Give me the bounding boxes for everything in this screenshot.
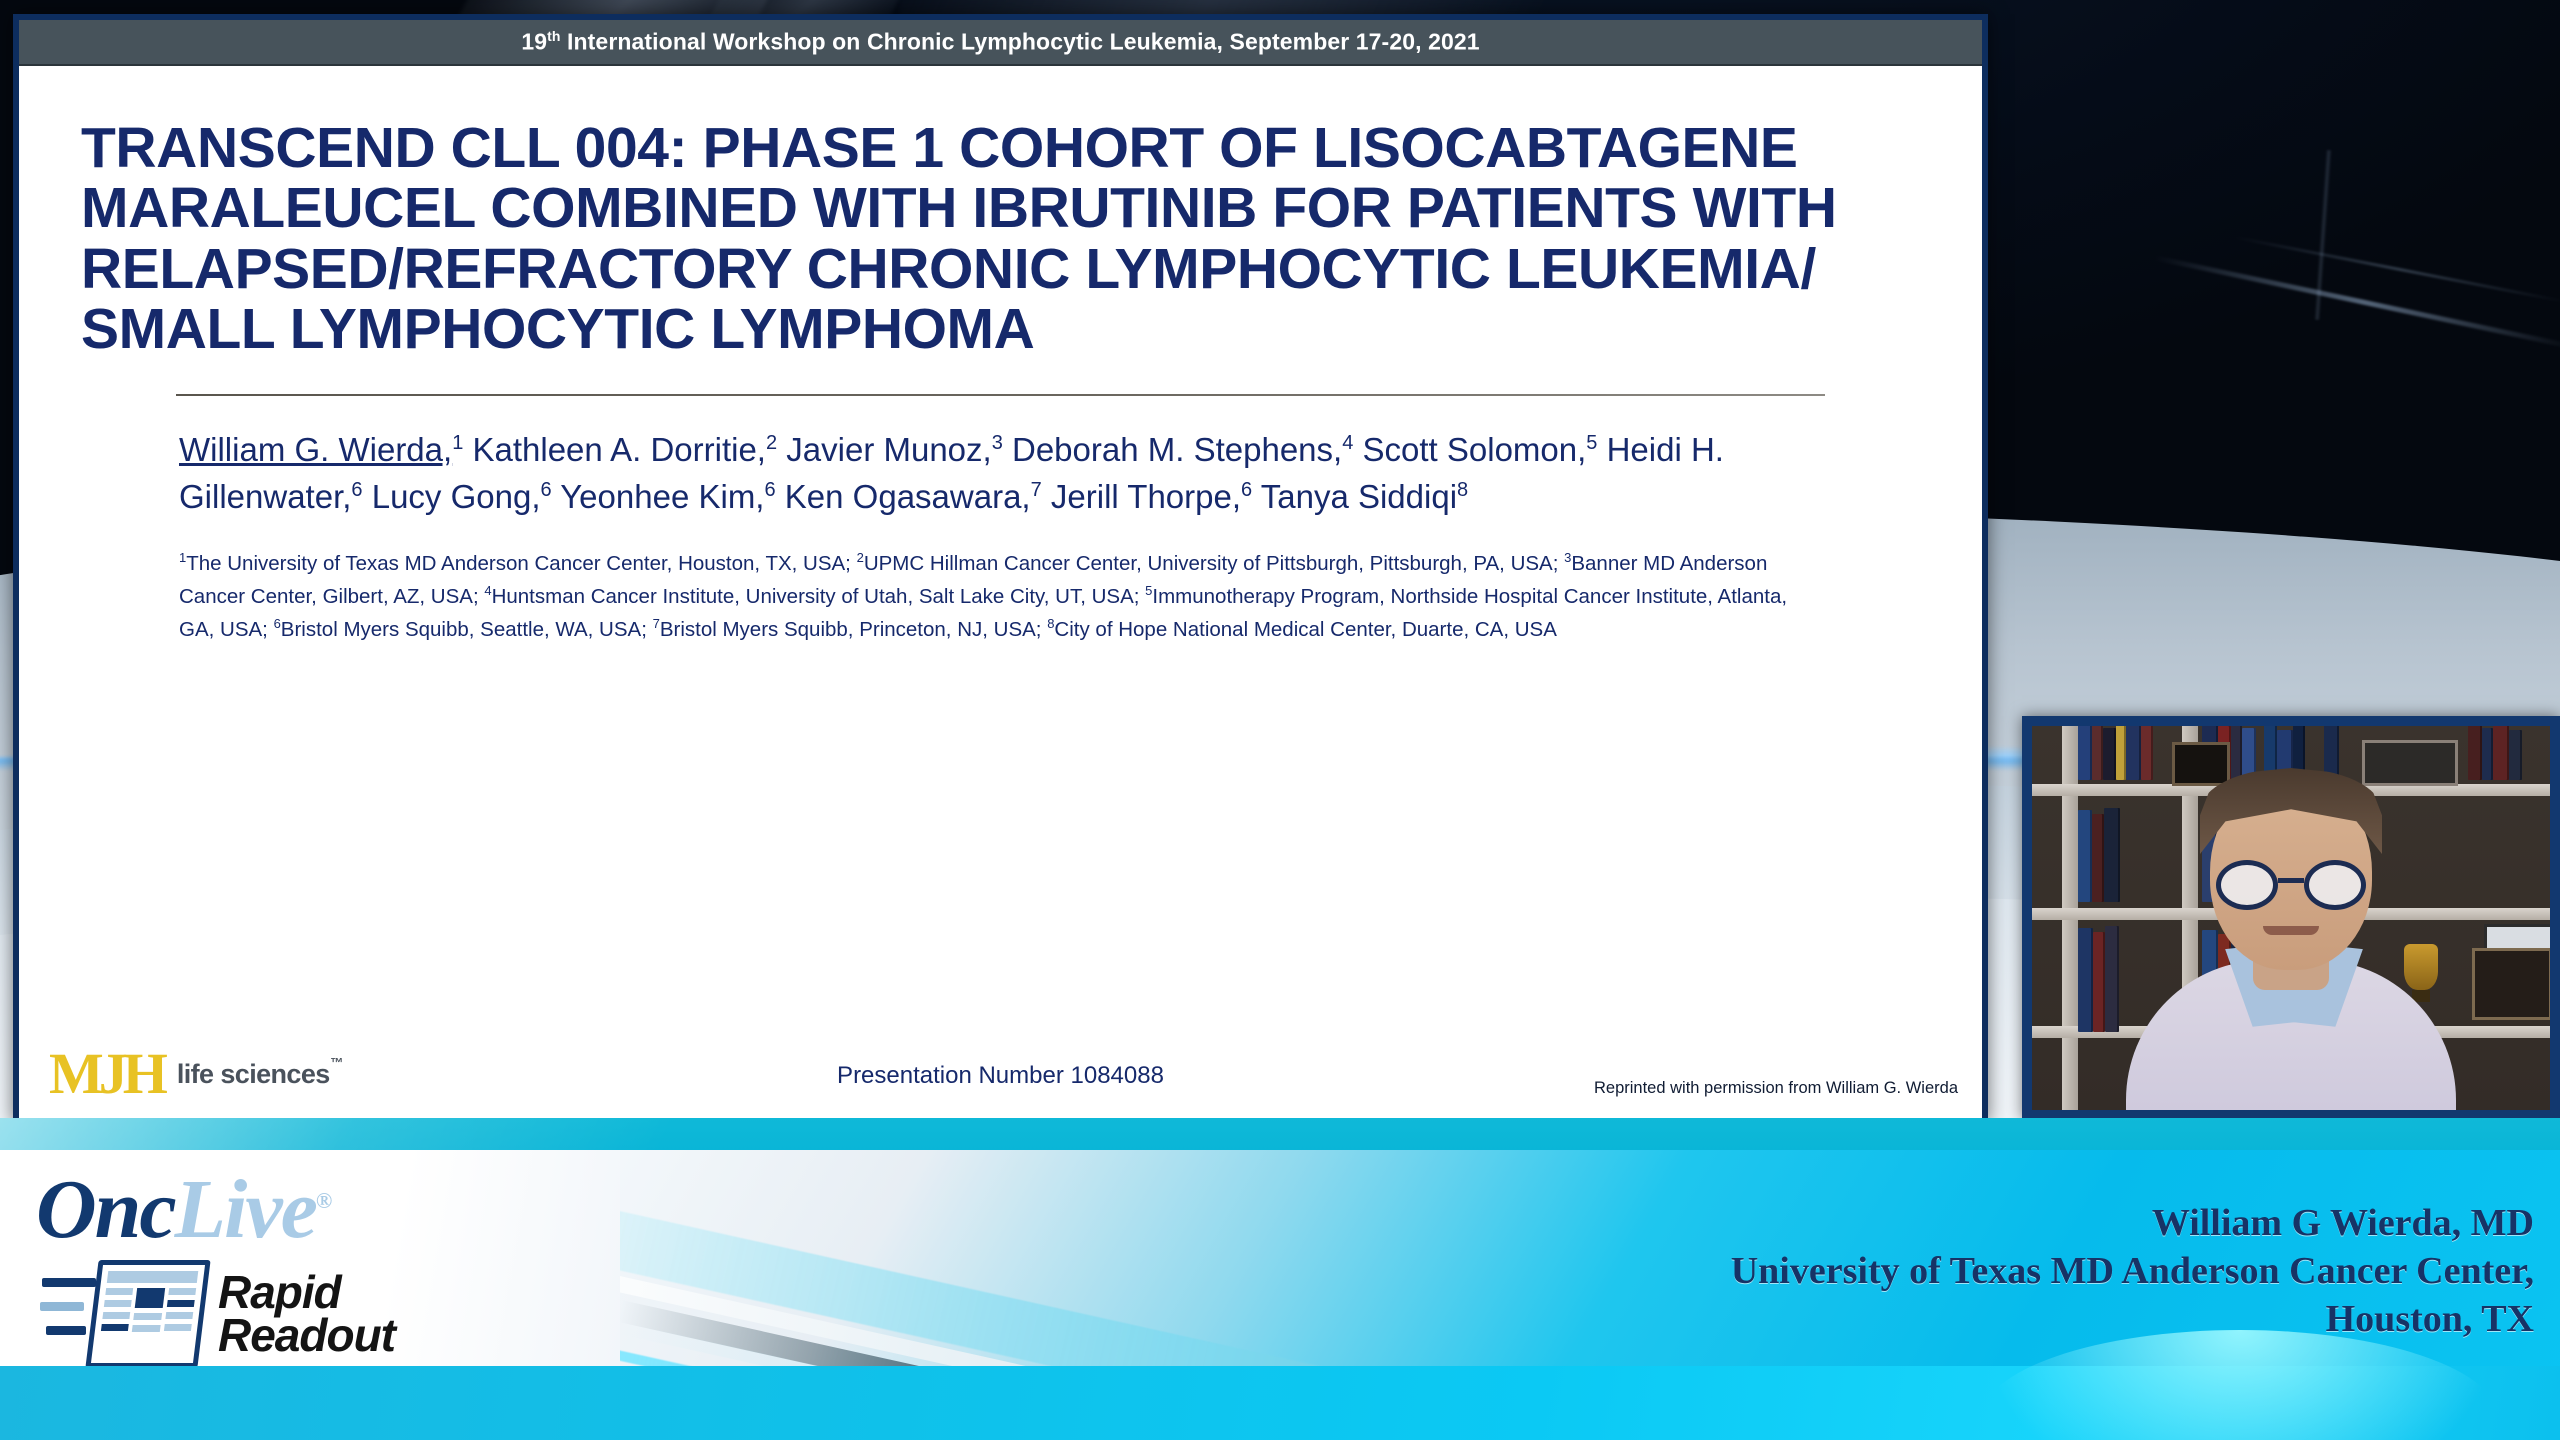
doc-line (164, 1324, 192, 1331)
doc-line (101, 1324, 129, 1331)
rapid-readout-lockup: Rapid Readout (40, 1258, 395, 1370)
screen: 19th International Workshop on Chronic L… (0, 0, 2560, 1440)
banner-accent-bar (0, 1366, 2560, 1440)
book (2141, 726, 2153, 780)
doc-columns (100, 1288, 196, 1337)
reprint-permission-note: Reprinted with permission from William G… (1594, 1079, 1958, 1098)
trademark-icon: ™ (330, 1055, 342, 1070)
author-affiliation-marker: 4 (1342, 432, 1353, 454)
book (2103, 728, 2116, 780)
book (2078, 928, 2093, 1032)
doc-line (134, 1313, 162, 1320)
presentation-number: Presentation Number 1084088 (837, 1062, 1164, 1090)
framed-photo (2472, 948, 2550, 1020)
author-affiliation-marker: 7 (1031, 479, 1042, 501)
doc-line (165, 1312, 193, 1319)
affiliation-marker: 6 (274, 616, 281, 631)
rapid-readout-text: Rapid Readout (218, 1271, 395, 1357)
book (2509, 730, 2522, 780)
affiliation-text: Bristol Myers Squibb, Seattle, WA, USA; (281, 618, 653, 641)
doc-line (168, 1288, 196, 1295)
book (2092, 726, 2103, 780)
mjh-life-sciences-logo: MJH life sciences™ (49, 1050, 330, 1098)
doc-line (107, 1271, 198, 1283)
eyeglasses-icon (2216, 860, 2366, 910)
slide-footer: MJH life sciences™ Presentation Number 1… (19, 1022, 1982, 1118)
book (2078, 810, 2092, 902)
hair (2200, 768, 2382, 854)
doc-line (135, 1288, 165, 1308)
author-name: Scott Solomon, (1363, 431, 1587, 468)
author-affiliation-marker: 6 (351, 479, 362, 501)
onclive-onc-text: Onc (36, 1163, 175, 1256)
author-affiliation-marker: 8 (1457, 479, 1468, 501)
document-icon (40, 1258, 204, 1370)
conference-title: 19th International Workshop on Chronic L… (521, 28, 1479, 56)
doc-line (102, 1312, 130, 1319)
affiliation-marker: 4 (484, 583, 491, 598)
speaker-affiliation: University of Texas MD Anderson Cancer C… (1731, 1248, 2534, 1296)
onclive-logo[interactable]: OncLive® (36, 1168, 330, 1252)
speed-line (46, 1326, 86, 1335)
banner-glow (1980, 1330, 2500, 1440)
affiliation-text: Huntsman Cancer Institute, University of… (492, 585, 1146, 608)
author-name: Jerill Thorpe, (1051, 478, 1241, 515)
lens-right (2304, 860, 2366, 910)
author-name: Deborah M. Stephens, (1012, 431, 1342, 468)
ordinal-suffix: th (547, 28, 560, 44)
doc-line (167, 1300, 195, 1307)
author-name: Kathleen A. Dorritie, (472, 431, 766, 468)
author-affiliation-marker: 2 (766, 432, 777, 454)
book (2078, 726, 2092, 780)
author-name: Tanya Siddiqi (1261, 478, 1457, 515)
rapid-word: Rapid (218, 1271, 395, 1314)
author-affiliation-marker: 5 (1586, 432, 1597, 454)
studio-streak (2154, 255, 2560, 349)
book (2468, 726, 2482, 780)
author-name: Yeonhee Kim, (560, 478, 764, 515)
registered-trademark-icon: ® (316, 1188, 330, 1213)
doc-column (163, 1288, 196, 1337)
book (2104, 808, 2120, 902)
author-affiliation-marker: 6 (541, 479, 552, 501)
speed-line (40, 1302, 84, 1311)
doc-line (132, 1325, 160, 1332)
doc-line (105, 1288, 133, 1295)
book (2482, 728, 2493, 780)
lens-left (2216, 860, 2278, 910)
book (2092, 814, 2104, 902)
lower-third-banner: OncLive® (0, 1150, 2560, 1440)
onclive-live-text: Live (175, 1163, 316, 1256)
slide-header-bar: 19th International Workshop on Chronic L… (19, 20, 1982, 66)
studio-streak (2233, 236, 2560, 304)
glasses-bridge (2278, 878, 2304, 883)
doc-column (100, 1288, 133, 1337)
author-affiliation-marker: 1 (452, 432, 463, 454)
author-affiliation-marker: 6 (1241, 479, 1252, 501)
presentation-slide: 19th International Workshop on Chronic L… (13, 14, 1988, 1124)
book (2493, 726, 2509, 780)
author-affiliation-marker: 6 (764, 479, 775, 501)
speaker-person (2126, 780, 2456, 1110)
book (2126, 726, 2141, 780)
book (2116, 726, 2126, 780)
affiliation-marker: 2 (857, 550, 864, 565)
speaker-name: William G Wierda, MD (1731, 1200, 2534, 1248)
document-page (85, 1260, 210, 1368)
speaker-video-feed[interactable] (2022, 716, 2560, 1120)
mjh-monogram: MJH (49, 1050, 167, 1098)
logo-plate: OncLive® (0, 1150, 620, 1382)
book (2093, 932, 2105, 1032)
mjh-wordmark: life sciences™ (177, 1059, 330, 1090)
affiliation-text: City of Hope National Medical Center, Du… (1054, 618, 1556, 641)
speed-line (42, 1278, 96, 1287)
affiliation-marker: 7 (653, 616, 660, 631)
slide-title: TRANSCEND CLL 004: PHASE 1 COHORT OF LIS… (81, 118, 1881, 360)
author-name: Javier Munoz, (786, 431, 991, 468)
video-image (2032, 726, 2550, 1110)
author-name: Ken Ogasawara, (785, 478, 1031, 515)
mouth (2263, 926, 2319, 935)
author-list: William G. Wierda,1 Kathleen A. Dorritie… (179, 426, 1822, 521)
speaker-location: Houston, TX (1731, 1296, 2534, 1344)
affiliation-list: 1The University of Texas MD Anderson Can… (179, 547, 1822, 647)
affiliation-text: UPMC Hillman Cancer Center, University o… (864, 552, 1564, 575)
doc-column (132, 1288, 165, 1337)
book (2231, 726, 2242, 780)
speaker-identification: William G Wierda, MD University of Texas… (1731, 1200, 2534, 1344)
readout-word: Readout (218, 1314, 395, 1357)
head (2210, 774, 2372, 970)
book (2105, 926, 2119, 1032)
author-affiliation-marker: 3 (992, 432, 1003, 454)
affiliation-text: The University of Texas MD Anderson Canc… (186, 552, 856, 575)
author-name: Lucy Gong, (372, 478, 541, 515)
affiliation-text: Bristol Myers Squibb, Princeton, NJ, USA… (660, 618, 1047, 641)
doc-line (104, 1300, 132, 1307)
title-divider (176, 394, 1825, 396)
author-name: William G. Wierda, (179, 431, 452, 468)
slide-body: TRANSCEND CLL 004: PHASE 1 COHORT OF LIS… (19, 66, 1982, 1118)
